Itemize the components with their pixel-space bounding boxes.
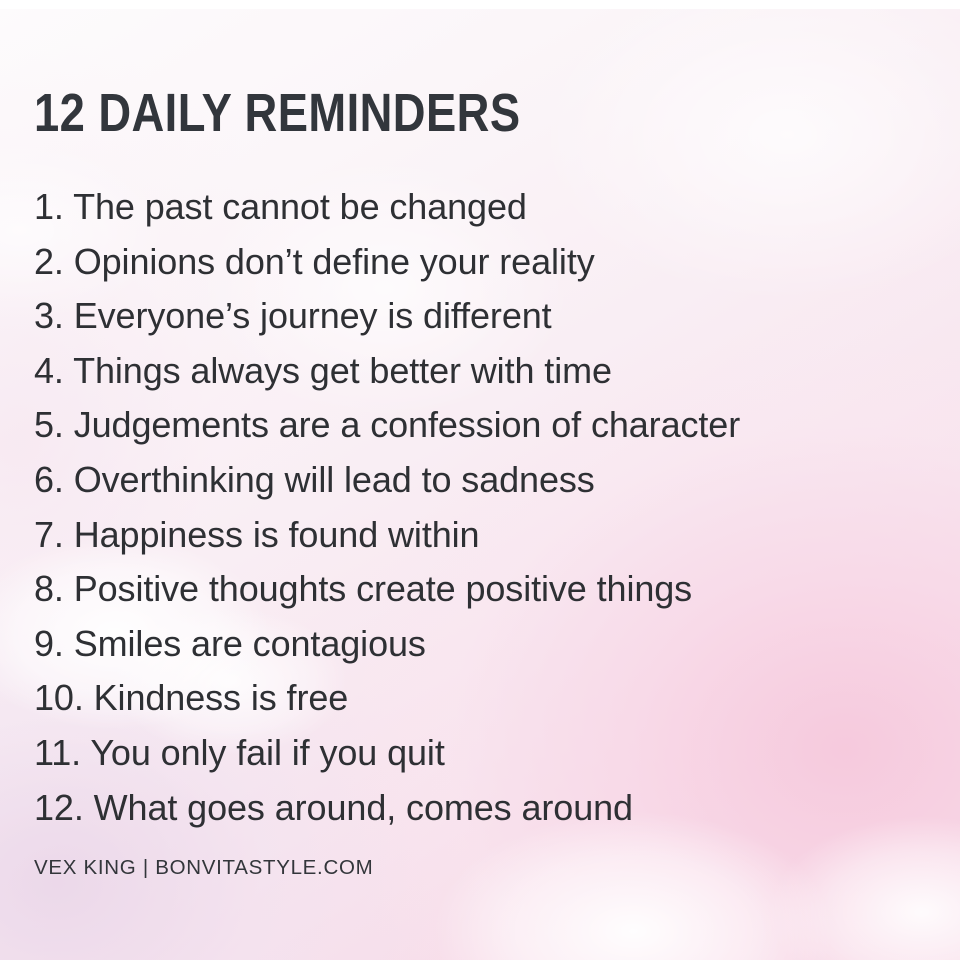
list-item: 4. Things always get better with time [34,344,930,399]
list-item: 3. Everyone’s journey is different [34,289,930,344]
poster-content: 12 DAILY REMINDERS 1. The past cannot be… [0,0,960,960]
attribution-credit: VEX KING | BONVITASTYLE.COM [34,855,373,881]
reminder-list: 1. The past cannot be changed 2. Opinion… [34,180,930,835]
list-item: 8. Positive thoughts create positive thi… [34,562,930,617]
list-item: 11. You only fail if you quit [34,726,930,781]
list-item: 12. What goes around, comes around [34,781,930,836]
list-item: 6. Overthinking will lead to sadness [34,453,930,508]
list-item: 5. Judgements are a confession of charac… [34,398,930,453]
list-item: 2. Opinions don’t define your reality [34,235,930,290]
list-item: 7. Happiness is found within [34,508,930,563]
list-item: 9. Smiles are contagious [34,617,930,672]
list-item: 10. Kindness is free [34,671,930,726]
quote-poster: 12 DAILY REMINDERS 1. The past cannot be… [0,0,960,960]
page-title: 12 DAILY REMINDERS [34,86,521,140]
list-item: 1. The past cannot be changed [34,180,930,235]
